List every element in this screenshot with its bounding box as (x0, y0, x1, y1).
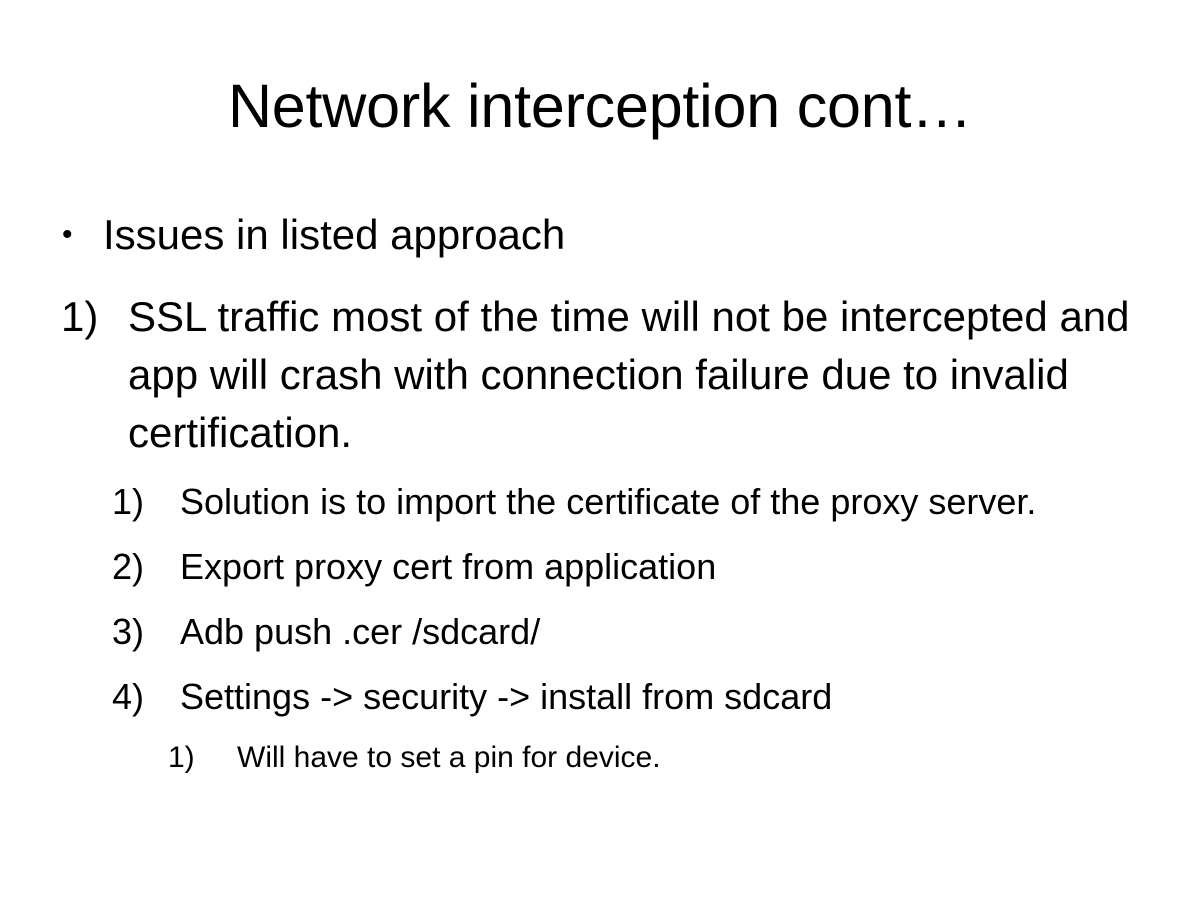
slide-title: Network interception cont… (60, 72, 1140, 140)
number-marker: 2) (112, 541, 144, 593)
list-item: 1) SSL traffic most of the time will not… (60, 288, 1140, 462)
bullet-marker-icon: • (62, 206, 73, 264)
slide-body-content: • Issues in listed approach 1) SSL traff… (60, 206, 1140, 788)
list-item-text: Will have to set a pin for device. (237, 736, 1140, 780)
list-item: • Issues in listed approach (60, 206, 1140, 264)
list-item: 1) Solution is to import the certificate… (60, 476, 1140, 528)
list-item-text: Adb push .cer /sdcard/ (180, 606, 1140, 658)
list-item-text: Issues in listed approach (103, 206, 1140, 264)
number-marker: 4) (112, 671, 144, 723)
list-item: 4) Settings -> security -> install from … (60, 671, 1140, 723)
number-marker: 1) (112, 476, 144, 528)
presentation-slide: Network interception cont… • Issues in l… (0, 0, 1200, 900)
list-item-text: Settings -> security -> install from sdc… (180, 671, 1140, 723)
list-item: 3) Adb push .cer /sdcard/ (60, 606, 1140, 658)
list-item-text: Export proxy cert from application (180, 541, 1140, 593)
number-marker: 1) (168, 736, 195, 780)
list-item-text: SSL traffic most of the time will not be… (128, 288, 1140, 462)
number-marker: 3) (112, 606, 144, 658)
number-marker: 1) (61, 288, 98, 346)
list-item: 2) Export proxy cert from application (60, 541, 1140, 593)
list-item: 1) Will have to set a pin for device. (60, 736, 1140, 780)
list-item-text: Solution is to import the certificate of… (180, 476, 1140, 528)
